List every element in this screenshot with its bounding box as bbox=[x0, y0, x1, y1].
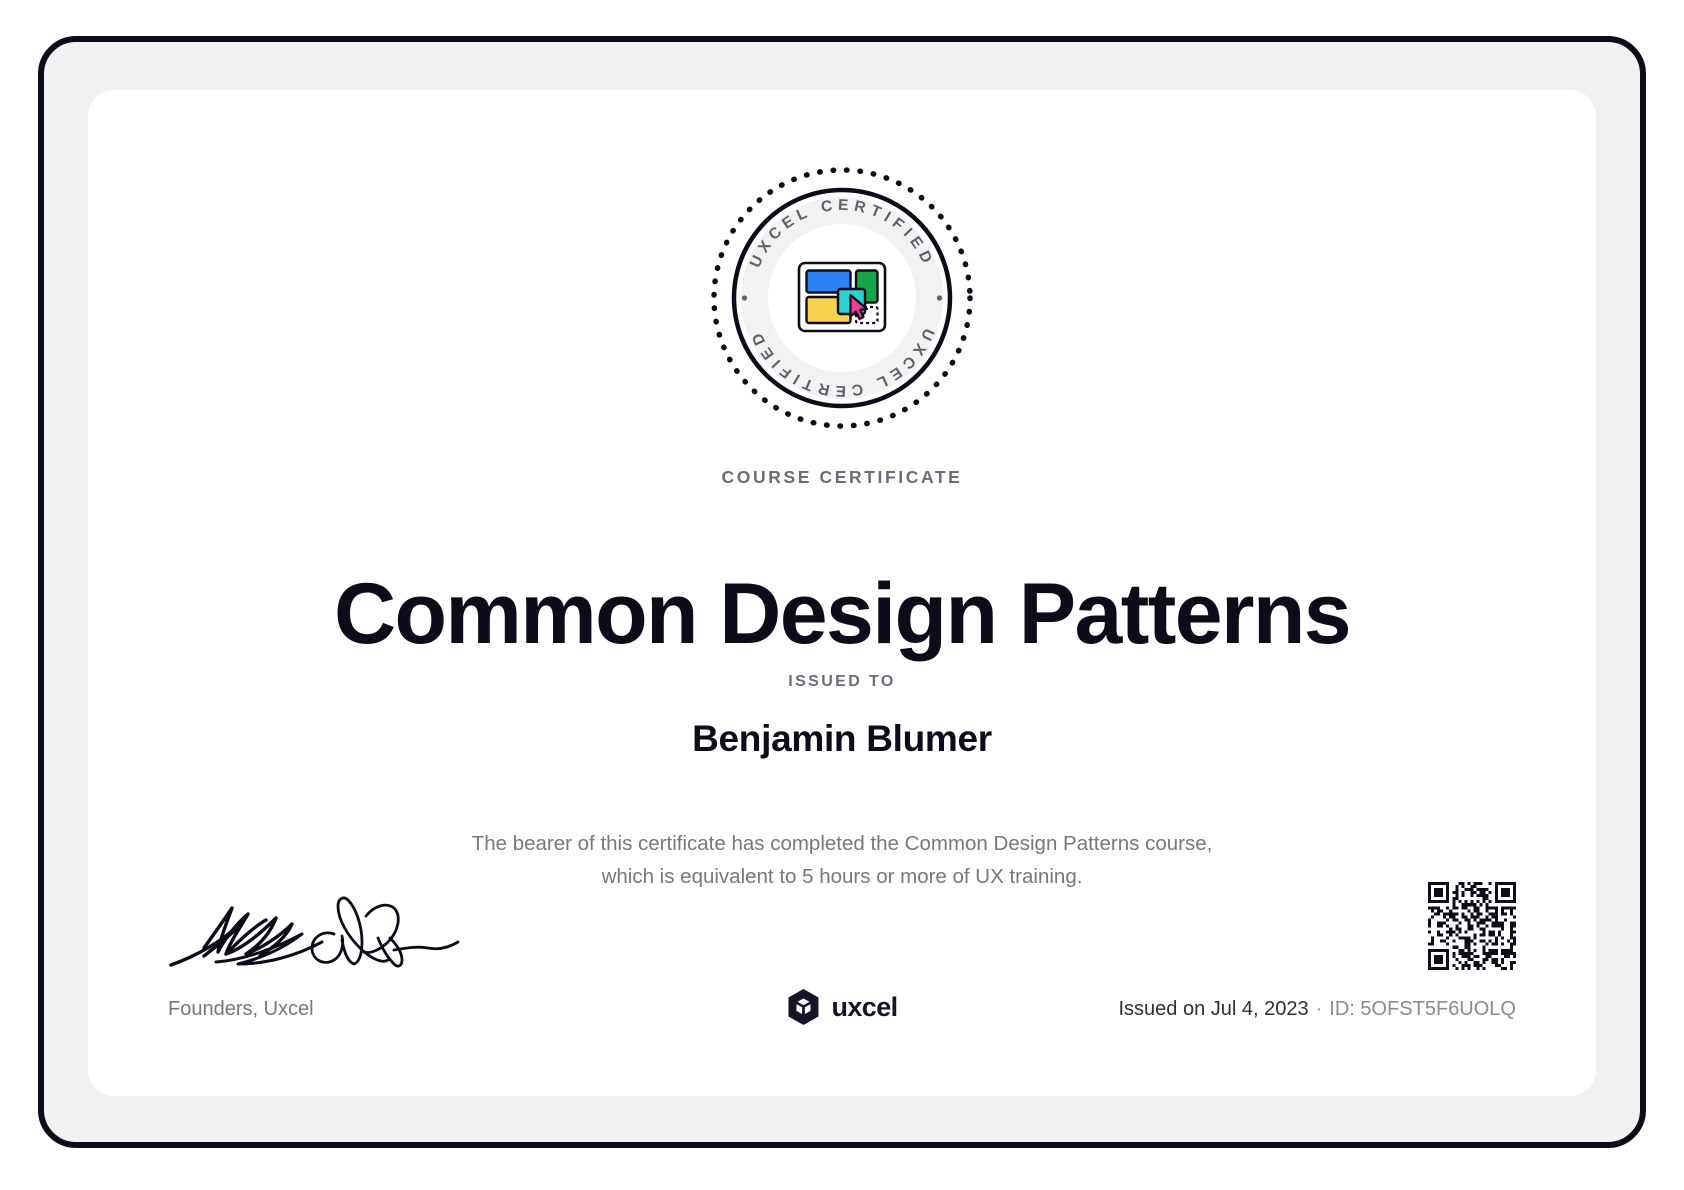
recipient-name: Benjamin Blumer bbox=[88, 718, 1596, 760]
page-kicker: COURSE CERTIFICATE bbox=[88, 467, 1596, 488]
uxcel-wordmark: uxcel bbox=[831, 992, 897, 1023]
certificate-card: UXCEL CERTIFIED UXCEL CERTIFIED bbox=[88, 90, 1596, 1096]
seal-bullet-left bbox=[742, 295, 747, 300]
issue-metadata: Issued on Jul 4, 2023·ID: 5OFST5F6UOLQ bbox=[1118, 998, 1516, 1021]
seal-bullet-right bbox=[937, 295, 942, 300]
uxcel-brand-logo: uxcel bbox=[786, 988, 897, 1026]
signature-one bbox=[171, 908, 292, 965]
certificate-outer-frame: UXCEL CERTIFIED UXCEL CERTIFIED bbox=[38, 36, 1646, 1148]
uxcel-cube-logo bbox=[786, 988, 820, 1026]
page-title: Common Design Patterns bbox=[88, 568, 1596, 661]
certificate-body-text: The bearer of this certificate has compl… bbox=[462, 827, 1222, 893]
meta-separator: · bbox=[1316, 998, 1323, 1020]
founders-caption: Founders, Uxcel bbox=[168, 998, 314, 1021]
verification-qr-code[interactable] bbox=[1428, 882, 1516, 970]
uxcel-certified-seal: UXCEL CERTIFIED UXCEL CERTIFIED bbox=[706, 162, 978, 434]
founders-signatures bbox=[166, 890, 466, 980]
issued-on-date: Issued on Jul 4, 2023 bbox=[1118, 998, 1308, 1020]
design-patterns-icon bbox=[799, 263, 885, 331]
signature-two bbox=[312, 898, 458, 966]
issued-to-label: ISSUED TO bbox=[88, 673, 1596, 691]
certificate-id: ID: 5OFST5F6UOLQ bbox=[1329, 998, 1516, 1020]
